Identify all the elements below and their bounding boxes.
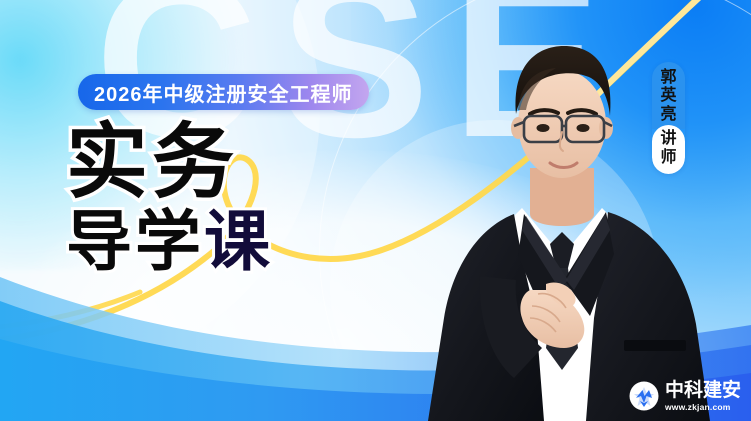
instructor-name-char-2: 英 (660, 87, 676, 105)
headline-line-2: 导学课 (66, 208, 273, 274)
instructor-name-section: 郭 英 亮 (652, 62, 685, 129)
brand-logo[interactable]: 中科建安 www.zkjan.com (629, 381, 741, 412)
instructor-name-badge: 郭 英 亮 讲 师 (652, 62, 685, 174)
headline-line-1: 实务 (66, 124, 273, 202)
course-title-badge-label: 2026年中级注册安全工程师 (94, 78, 353, 107)
instructor-title-char-1: 讲 (660, 130, 676, 148)
instructor-title-section: 讲 师 (652, 125, 685, 174)
instructor-name-char-3: 亮 (660, 106, 676, 124)
brand-url: www.zkjan.com (665, 403, 741, 412)
course-banner: CSE 20 (0, 0, 751, 421)
brand-logo-text: 中科建安 www.zkjan.com (665, 381, 741, 412)
instructor-title-char-2: 师 (660, 149, 676, 167)
headline-line-2-part-1: 导学 (66, 204, 204, 278)
headline: 实务 导学课 (66, 124, 273, 274)
course-title-badge: 2026年中级注册安全工程师 (78, 74, 369, 110)
instructor-name-char-1: 郭 (660, 69, 676, 87)
headline-line-2-part-2: 课 (204, 204, 273, 278)
brand-name: 中科建安 (665, 381, 741, 400)
zkjan-star-arrow-icon (629, 381, 659, 411)
